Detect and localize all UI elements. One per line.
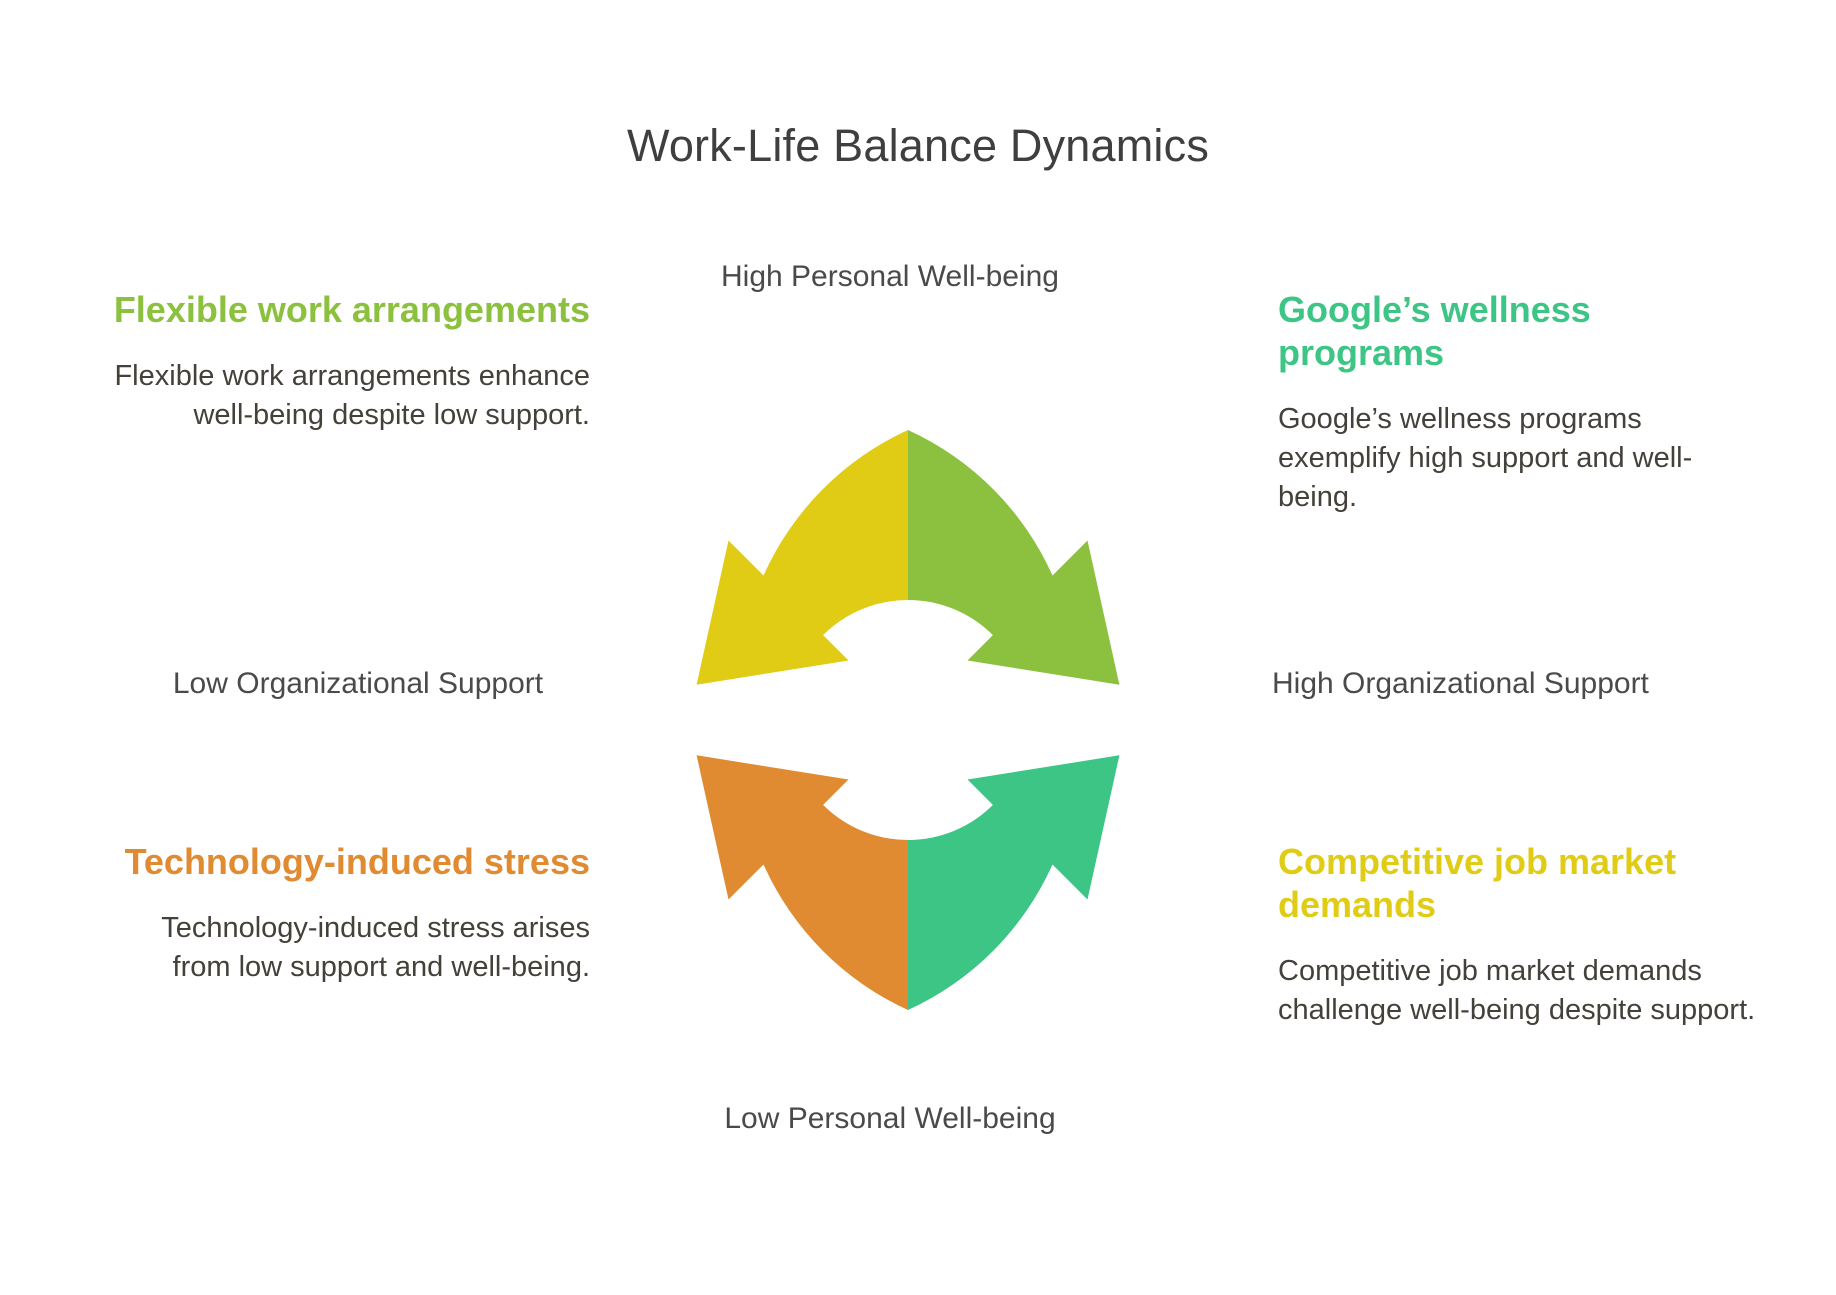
quadrant-bottom-left-heading: Technology-induced stress: [108, 840, 590, 883]
arrow-path-teal: [908, 755, 1119, 1010]
cycle-arrow-ring: [608, 420, 1208, 1020]
quadrant-top-right-body: Google’s wellness programs exemplify hig…: [1278, 400, 1760, 516]
arrow-path-orange: [697, 755, 908, 1010]
arrow-path-yellow: [697, 430, 908, 685]
quadrant-bottom-left: Technology-induced stress Technology-ind…: [108, 840, 590, 986]
axis-label-high-personal-wellbeing: High Personal Well-being: [700, 258, 1080, 296]
quadrant-bottom-left-body: Technology-induced stress arises from lo…: [108, 909, 590, 986]
arrow-path-green: [908, 430, 1119, 685]
segment-bottom-right-arrow: [908, 755, 1119, 1010]
segment-bottom-left-arrow: [697, 755, 908, 1010]
quadrant-top-left-body: Flexible work arrangements enhance well-…: [108, 357, 590, 434]
axis-label-low-organizational-support: Low Organizational Support: [118, 665, 598, 703]
quadrant-bottom-right-body: Competitive job market demands challenge…: [1278, 952, 1760, 1029]
axis-label-low-personal-wellbeing: Low Personal Well-being: [690, 1100, 1090, 1138]
quadrant-top-right: Google’s wellness programs Google’s well…: [1278, 288, 1760, 516]
quadrant-top-left: Flexible work arrangements Flexible work…: [108, 288, 590, 434]
quadrant-bottom-right: Competitive job market demands Competiti…: [1278, 840, 1760, 1030]
segment-top-left-arrow: [697, 430, 908, 685]
cycle-diagram: [608, 420, 1208, 1020]
page-title: Work-Life Balance Dynamics: [0, 120, 1836, 172]
quadrant-bottom-right-heading: Competitive job market demands: [1278, 840, 1760, 926]
quadrant-top-left-heading: Flexible work arrangements: [108, 288, 590, 331]
axis-label-high-organizational-support: High Organizational Support: [1272, 665, 1752, 703]
segment-top-right-arrow: [908, 430, 1119, 685]
quadrant-top-right-heading: Google’s wellness programs: [1278, 288, 1760, 374]
